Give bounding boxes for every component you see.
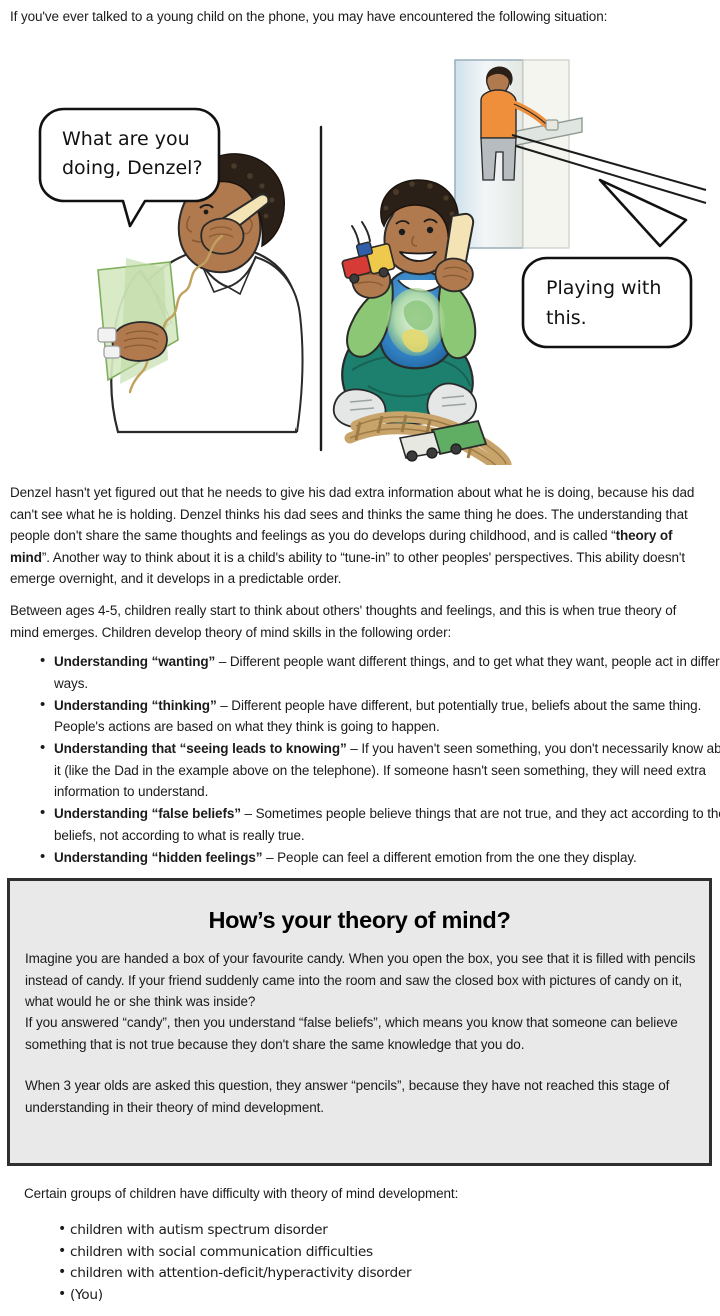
dad-hand-lower	[113, 322, 167, 361]
callout-heading: How’s your theory of mind?	[10, 907, 709, 934]
theory-of-mind-quiz-callout: How’s your theory of mind? Imagine you a…	[7, 878, 712, 1166]
paragraph-ages-intro: Between ages 4-5, children really start …	[10, 600, 700, 643]
list-item: children with attention-deficit/hyperact…	[58, 1263, 658, 1285]
list-item: Understanding “wanting” – Different peop…	[40, 651, 720, 694]
article-page: If you've ever talked to a young child o…	[0, 0, 720, 1316]
callout-paragraph-1: Imagine you are handed a box of your fav…	[25, 948, 697, 1013]
list-item: Understanding “hidden feelings” – People…	[40, 847, 720, 869]
boy-figure	[334, 180, 476, 428]
bubble-dad-line2: doing, Denzel?	[62, 157, 203, 179]
stage-term: Understanding “false beliefs”	[54, 806, 241, 821]
callout-paragraph-3: When 3 year olds are asked this question…	[25, 1075, 697, 1118]
list-item: children with social communication diffi…	[58, 1242, 658, 1264]
theory-of-mind-comic-illustration: What are you doing, Denzel?	[0, 40, 720, 465]
closing-lead-text: Certain groups of children have difficul…	[24, 1184, 694, 1204]
list-item: children with autism spectrum disorder	[58, 1220, 658, 1242]
theory-of-mind-stage-list: Understanding “wanting” – Different peop…	[10, 651, 720, 869]
motion-lines	[352, 222, 370, 244]
stage-desc: – People can feel a different emotion fr…	[262, 850, 636, 865]
callout-paragraph-2: If you answered “candy”, then you unders…	[25, 1012, 697, 1055]
paragraph-denzel-explanation: Denzel hasn't yet figured out that he ne…	[10, 482, 700, 590]
list-item: (You)	[58, 1285, 658, 1307]
stage-term: Understanding that “seeing leads to know…	[54, 741, 347, 756]
bubble-boy-line1: Playing with	[546, 277, 661, 299]
stage-term: Understanding “wanting”	[54, 654, 215, 669]
bubble-boy-line2: this.	[546, 307, 587, 329]
list-item: Understanding “thinking” – Different peo…	[40, 695, 720, 738]
affected-groups-list: children with autism spectrum disorder c…	[24, 1220, 658, 1306]
para1-part-a: Denzel hasn't yet figured out that he ne…	[10, 485, 694, 543]
stage-term: Understanding “hidden feelings”	[54, 850, 262, 865]
intro-paragraph: If you've ever talked to a young child o…	[10, 8, 710, 26]
stage-term: Understanding “thinking”	[54, 698, 217, 713]
para1-part-b: ”. Another way to think about it is a ch…	[10, 550, 685, 587]
list-item: Understanding “false beliefs” – Sometime…	[40, 803, 720, 846]
bubble-dad-line1: What are you	[62, 128, 190, 150]
list-item: Understanding that “seeing leads to know…	[40, 738, 720, 803]
